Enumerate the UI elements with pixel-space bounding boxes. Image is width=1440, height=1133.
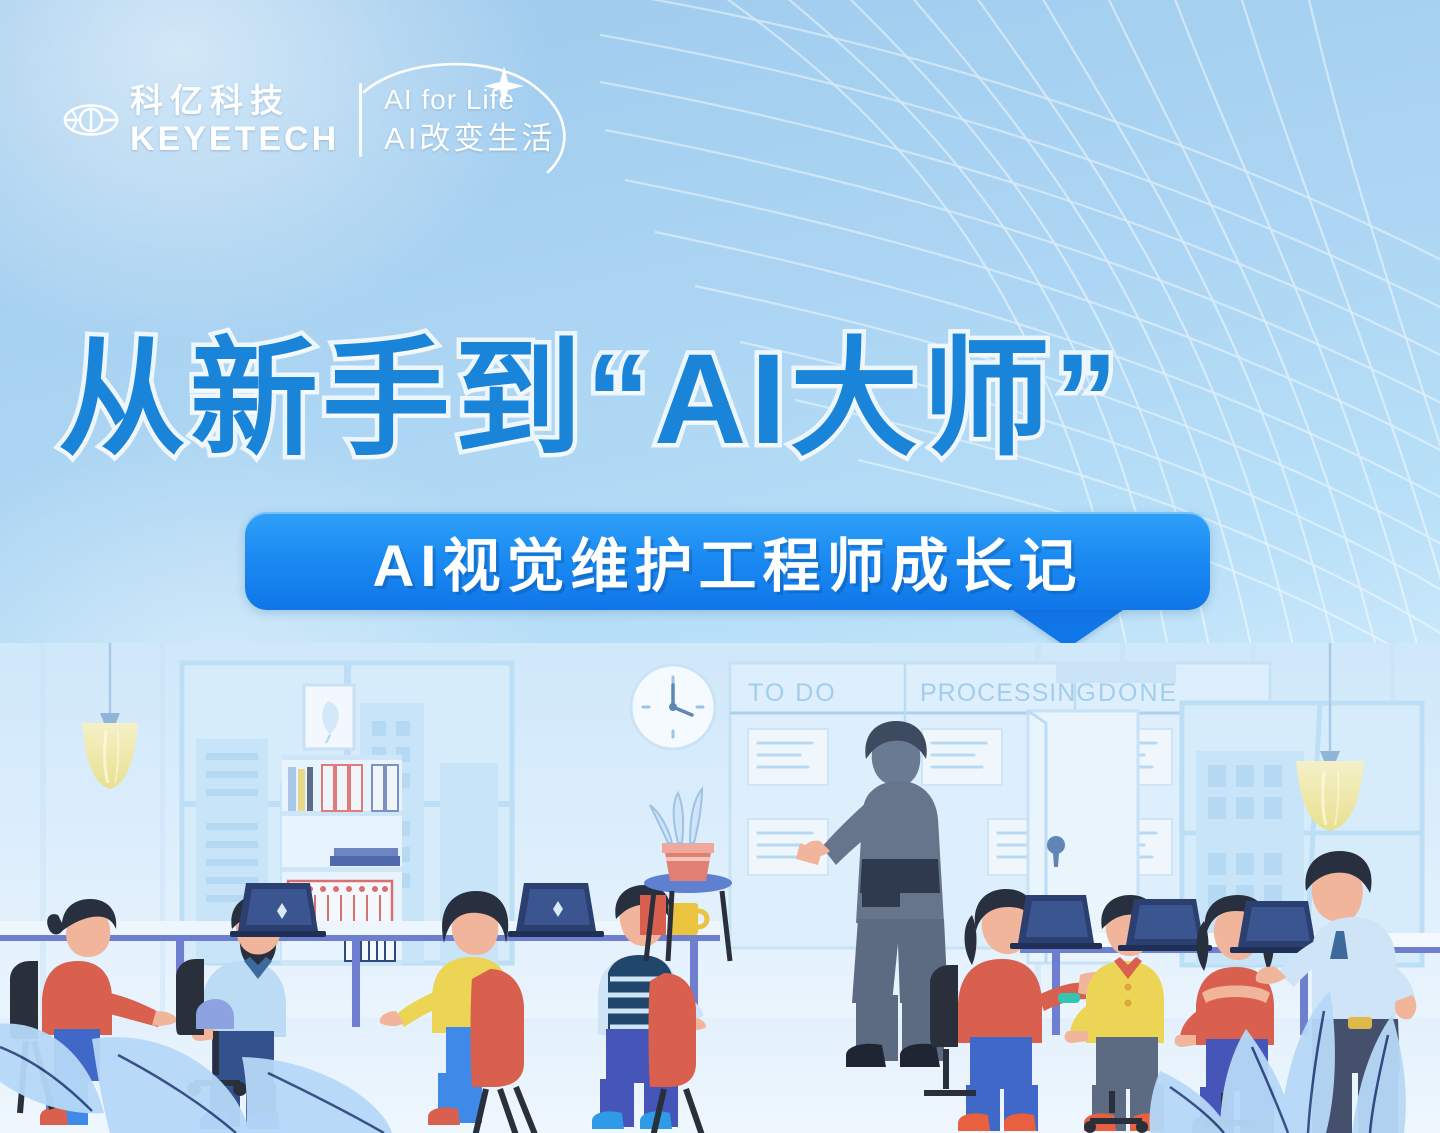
background-glow-top-left — [0, 0, 560, 360]
banner-body: AI视觉维护工程师成长记 — [245, 512, 1210, 610]
office-training-illustration: TO DO PROCESSING DONE — [0, 643, 1440, 1133]
logo-divider — [359, 83, 362, 157]
kanban-column-todo: TO DO — [748, 679, 837, 707]
banner-tail — [1010, 608, 1126, 648]
subtitle-text: AI视觉维护工程师成长记 — [372, 519, 1082, 603]
tagline-cn: AI改变生活 — [384, 120, 555, 157]
brand-name-en: KEYETECH — [130, 122, 339, 158]
promo-poster: 科亿科技 KEYETECH AI for Life AI改变生活 从新手到“AI… — [0, 0, 1440, 1133]
page-title: 从新手到“AI大师” — [58, 330, 1388, 470]
tagline-en: AI for Life — [384, 83, 555, 117]
brand-logo[interactable]: 科亿科技 KEYETECH AI for Life AI改变生活 — [62, 72, 555, 168]
eye-icon — [62, 91, 120, 149]
wall-clock — [631, 665, 715, 749]
framed-picture — [304, 685, 354, 749]
subtitle-banner: AI视觉维护工程师成长记 — [245, 512, 1210, 647]
kanban-column-done: DONE — [1098, 679, 1178, 707]
brand-name-cn: 科亿科技 — [130, 82, 339, 120]
kanban-column-processing: PROCESSING — [920, 679, 1097, 707]
